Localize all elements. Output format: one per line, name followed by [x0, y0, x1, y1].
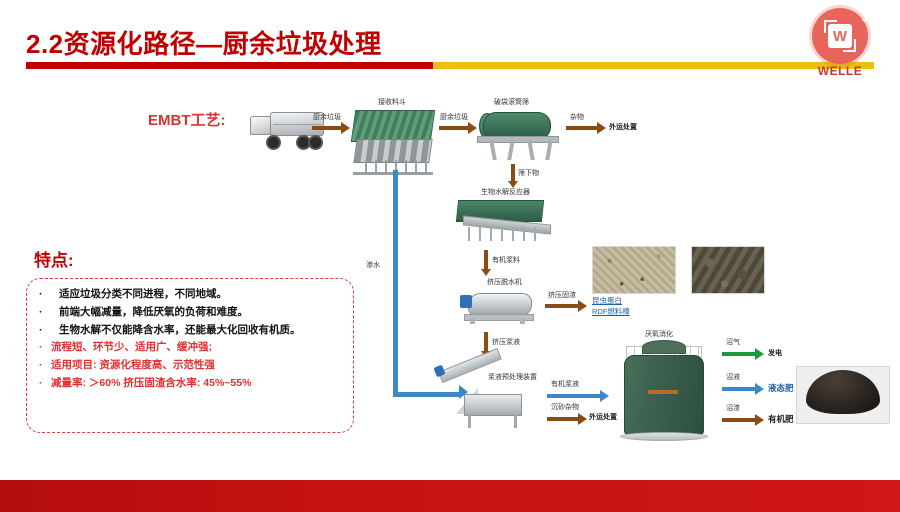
feature-text: 流程短、环节少、适用广、缓冲强;	[51, 342, 212, 354]
page-number: 12	[861, 0, 878, 32]
feature-item: · 减量率: ＞60% 挤压固渣含水率: 45%~55%	[39, 378, 341, 390]
feature-text: 生物水解不仅能降含水率，还能最大化回收有机质。	[59, 325, 301, 337]
node-label-drum: 破袋滚筒筛	[494, 99, 529, 108]
node-label-drum-reject-dest: 外运处置	[609, 124, 637, 133]
arrow-shaft	[722, 387, 755, 391]
arrow-head	[578, 300, 587, 312]
arrow-label-drum-underflow: 筛下物	[518, 170, 539, 179]
feature-item: · 适应垃圾分类不同进程，不同地域。	[39, 289, 341, 301]
slurry-pretreatment-unit-image	[438, 372, 534, 434]
compost-pile	[806, 370, 880, 414]
feature-text: 减量率: ＞60% 挤压固渣含水率: 45%~55%	[51, 378, 251, 390]
arrow-label-digestate-liquid: 沼液	[726, 374, 740, 383]
bullet-icon: ·	[39, 289, 51, 301]
footer-company-name: 维尔利环保科技集团股份有限公司 WELLE ENVIRONMENTAL GROU…	[0, 0, 900, 32]
pretreat-tank	[464, 394, 522, 416]
embt-process-label: EMBT工艺:	[148, 112, 226, 131]
bullet-icon: ·	[39, 360, 51, 372]
features-heading: 特点:	[34, 246, 74, 271]
arrow-head	[755, 414, 764, 426]
arrow-digestate-liquid	[722, 383, 764, 395]
arrow-drum-reject	[566, 122, 606, 134]
feature-item: · 生物水解不仅能降含水率，还能最大化回收有机质。	[39, 325, 341, 337]
arrow-head	[600, 390, 609, 402]
node-label-pretreat-grit-dest: 外运处置	[589, 414, 617, 423]
drum-leg	[527, 140, 535, 160]
feature-item: · 流程短、环节少、适用广、缓冲强;	[39, 342, 341, 354]
anaerobic-digester-image	[620, 346, 708, 442]
title-underline-bar	[26, 62, 874, 69]
feature-text: 适应垃圾分类不同进程，不同地域。	[59, 289, 227, 301]
organic-fertilizer-photo	[796, 366, 890, 424]
feature-text: 前端大幅减量，降低厌氧的负荷和难度。	[59, 307, 248, 319]
bullet-icon: ·	[39, 342, 51, 354]
arrow-head	[755, 348, 764, 360]
arrow-shaft	[566, 126, 597, 130]
node-label-digester: 厌氧消化	[645, 331, 673, 340]
arrow-label-digestate-solid: 沼渣	[726, 405, 740, 414]
arrow-pretreat-out	[547, 390, 609, 402]
arrow-label-pretreat-out: 有机浆液	[551, 381, 579, 390]
bag-breaking-drum-screen-image	[477, 110, 559, 164]
arrow-digestate-solid	[722, 414, 764, 426]
arrow-press-solid	[545, 300, 587, 312]
arrow-shaft	[439, 126, 468, 130]
feature-item: · 适用项目: 资源化程度高、示范性强	[39, 360, 341, 372]
digester-dome	[642, 340, 686, 354]
arrow-label-biogas: 沼气	[726, 339, 740, 348]
pretreat-leg	[468, 414, 471, 428]
feature-text: 适用项目: 资源化程度高、示范性强	[51, 360, 215, 372]
feature-item: · 前端大幅减量，降低厌氧的负荷和难度。	[39, 307, 341, 319]
bullet-icon: ·	[39, 325, 51, 337]
digester-body	[624, 355, 704, 435]
receiving-hopper-image	[353, 110, 435, 176]
product-label-insect-protein: 昆虫蛋白	[592, 296, 622, 305]
arrow-shaft	[722, 418, 755, 422]
footer-bar	[0, 480, 900, 512]
arrow-truck-to-hopper	[312, 122, 350, 134]
truck-wheel	[266, 135, 281, 150]
arrow-label-pretreat-grit: 沉砂杂物	[551, 404, 579, 413]
hopper-top	[351, 110, 435, 142]
insect-protein-photo	[592, 246, 676, 294]
features-box: · 适应垃圾分类不同进程，不同地域。 · 前端大幅减量，降低厌氧的负荷和难度。 …	[26, 278, 354, 433]
rdf-pellets-photo	[691, 246, 765, 294]
arrow-head	[578, 413, 587, 425]
arrow-head	[755, 383, 764, 395]
slide-root: 2.2资源化路径—厨余垃圾处理 W WELLE EMBT工艺: 厨余垃圾 接收料…	[0, 0, 900, 512]
pretreat-leg	[514, 414, 517, 428]
arrow-pretreat-grit	[547, 413, 587, 425]
arrow-label-leachate: 渗水	[366, 262, 380, 271]
press-foot	[520, 318, 525, 324]
arrow-head	[341, 122, 350, 134]
digester-logo-band	[648, 390, 678, 394]
arrow-shaft-vertical	[393, 170, 398, 392]
arrow-head	[468, 122, 477, 134]
arrow-shaft	[547, 394, 600, 398]
node-label-digestate-solid-dest: 有机肥	[768, 414, 794, 425]
arrow-shaft	[722, 352, 755, 356]
drum-leg	[489, 140, 497, 160]
drum-leg	[545, 140, 553, 160]
truck-wheel	[308, 135, 323, 150]
node-label-digestate-liquid-dest: 液态肥	[768, 383, 794, 394]
digester-base	[620, 432, 708, 441]
logo-wordmark: WELLE	[808, 64, 872, 78]
underline-red-segment	[26, 62, 433, 69]
arrow-shaft	[312, 126, 341, 130]
node-label-hopper: 接收料斗	[378, 99, 406, 108]
arrow-hopper-to-drum	[439, 122, 477, 134]
bullet-icon: ·	[39, 307, 51, 319]
bullet-icon: ·	[39, 378, 51, 390]
node-label-biogas-dest: 发电	[768, 350, 782, 359]
arrow-shaft	[545, 304, 578, 308]
arrow-biogas	[722, 348, 764, 360]
arrow-shaft	[547, 417, 578, 421]
arrow-head	[597, 122, 606, 134]
drum-leg	[507, 140, 515, 160]
product-label-rdf: RDF燃料棒	[592, 307, 630, 316]
